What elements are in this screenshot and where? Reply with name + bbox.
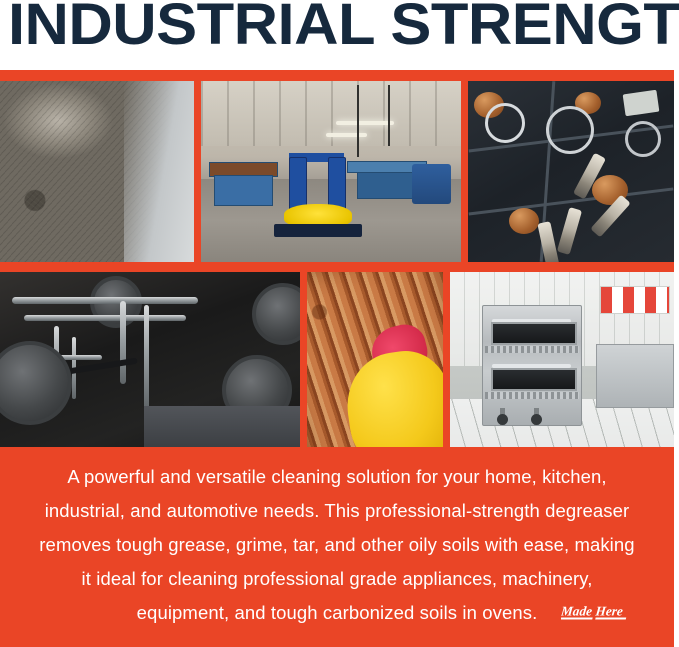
metal-ring bbox=[485, 103, 525, 143]
machine-pipe bbox=[120, 301, 126, 384]
product-description-text: A powerful and versatile cleaning soluti… bbox=[36, 460, 638, 630]
svg-text:Made: Made bbox=[561, 604, 593, 619]
shop-vise bbox=[412, 164, 451, 204]
gallery-image-grill-grate-cleaning bbox=[307, 272, 444, 453]
copper-bushing bbox=[509, 208, 539, 234]
greasy-engine-part-photo bbox=[0, 81, 194, 262]
metal-ring bbox=[625, 121, 661, 157]
gallery-row-bottom bbox=[0, 272, 674, 453]
machine-panel bbox=[144, 406, 300, 453]
gallery-image-greasy-engine-part bbox=[0, 81, 194, 262]
gallery-image-machine-shop bbox=[201, 81, 461, 262]
gallery-row-top bbox=[0, 81, 674, 262]
gallery-image-parts-tray bbox=[468, 81, 674, 262]
machine-pipe bbox=[12, 297, 198, 304]
product-feature-graphic: INDUSTRIAL STRENGTH bbox=[0, 0, 679, 647]
gallery-image-industrial-machinery bbox=[0, 272, 300, 453]
oven-door bbox=[491, 368, 578, 391]
machine-shop-photo bbox=[201, 81, 461, 262]
machine-pulley bbox=[0, 341, 72, 425]
kitchen-tile-pattern bbox=[600, 286, 669, 313]
parts-tray-photo bbox=[468, 81, 674, 262]
description-panel: A powerful and versatile cleaning soluti… bbox=[0, 447, 674, 647]
gallery-image-commercial-kitchen-ovens bbox=[450, 272, 674, 453]
conveyor-oven-stack bbox=[482, 305, 582, 426]
parts-tag bbox=[622, 90, 659, 117]
machine-pipe bbox=[24, 315, 186, 321]
svg-text:Here: Here bbox=[594, 604, 624, 619]
metal-ring bbox=[546, 106, 594, 154]
machine-pipe bbox=[144, 305, 149, 410]
commercial-kitchen-ovens-photo bbox=[450, 272, 674, 453]
page-title: INDUSTRIAL STRENGTH bbox=[8, 0, 679, 56]
image-gallery bbox=[0, 70, 674, 448]
oven-caster-wheel bbox=[497, 414, 508, 425]
made-here-logo: Made Here bbox=[561, 602, 635, 628]
shop-pipe bbox=[357, 85, 359, 157]
oven-caster-wheel bbox=[531, 414, 542, 425]
industrial-machinery-photo bbox=[0, 272, 300, 453]
machine-pulley bbox=[252, 283, 300, 345]
kitchen-counter bbox=[596, 344, 674, 408]
shop-bench bbox=[214, 175, 273, 206]
shop-pipe bbox=[388, 85, 390, 147]
shop-bench bbox=[357, 172, 416, 199]
grill-grate-cleaning-photo bbox=[307, 272, 444, 453]
oven-conveyor-belt bbox=[485, 346, 579, 353]
shop-light bbox=[326, 133, 368, 137]
vehicle-lift-base bbox=[274, 224, 362, 237]
spark-plug bbox=[557, 207, 582, 255]
oven-conveyor-belt bbox=[485, 392, 579, 399]
oven-door bbox=[491, 322, 578, 345]
shop-light bbox=[336, 121, 393, 125]
